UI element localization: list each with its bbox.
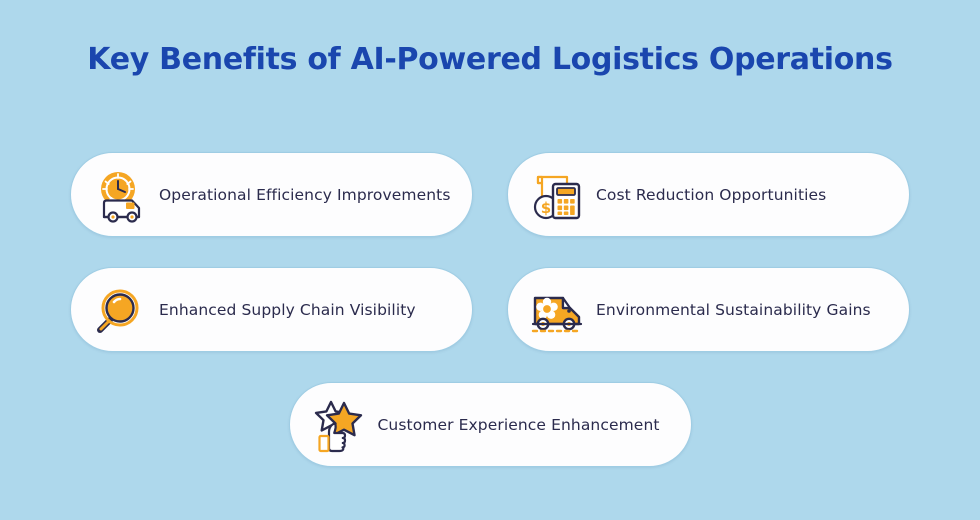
benefit-card-environmental-sustainability[interactable]: Environmental Sustainability Gains: [507, 267, 910, 352]
page-title: Key Benefits of AI-Powered Logistics Ope…: [0, 42, 980, 77]
benefit-card-label: Operational Efficiency Improvements: [153, 186, 451, 204]
star-thumbs-up-icon: [308, 394, 372, 456]
benefits-grid: Operational Efficiency Improvements $: [70, 152, 910, 497]
calculator-invoice-dollar-icon: $: [526, 164, 590, 226]
benefits-row-1: Operational Efficiency Improvements $: [70, 152, 910, 237]
benefit-card-cost-reduction[interactable]: $ Cost Reduction Op: [507, 152, 910, 237]
benefit-card-label: Enhanced Supply Chain Visibility: [153, 301, 416, 319]
magnifying-glass-icon: [89, 279, 153, 341]
benefits-row-2: Enhanced Supply Chain Visibility: [70, 267, 910, 352]
benefit-card-customer-experience[interactable]: Customer Experience Enhancement: [289, 382, 692, 467]
benefits-row-3: Customer Experience Enhancement: [70, 382, 910, 467]
benefit-card-label: Cost Reduction Opportunities: [590, 186, 826, 204]
benefit-card-supply-chain-visibility[interactable]: Enhanced Supply Chain Visibility: [70, 267, 473, 352]
clock-truck-icon: [89, 164, 153, 226]
eco-delivery-truck-icon: [526, 279, 590, 341]
svg-text:$: $: [541, 199, 551, 217]
benefit-card-operational-efficiency[interactable]: Operational Efficiency Improvements: [70, 152, 473, 237]
benefit-card-label: Environmental Sustainability Gains: [590, 301, 871, 319]
benefit-card-label: Customer Experience Enhancement: [372, 416, 660, 434]
